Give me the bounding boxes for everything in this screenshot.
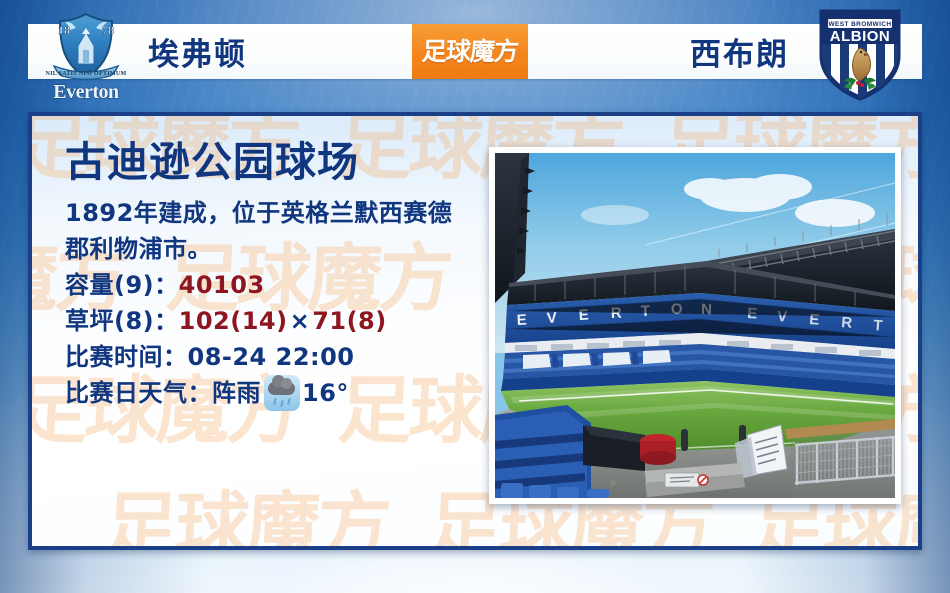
match-time-line: 比赛时间：08-24 22:00 (65, 339, 495, 375)
multiply-sign: × (288, 307, 313, 335)
stadium-info-card: 足球魔方 足球魔方 足球魔方 足球魔方 足球魔方 足球魔方 足球魔方 足球魔方 … (28, 112, 922, 550)
stadium-photo-frame[interactable]: E V E R T O N E V E R T (489, 147, 901, 504)
stadium-info-block: 古迪逊公园球场 1892年建成，位于英格兰默西赛德郡利物浦市。 容量(9)：40… (65, 140, 495, 411)
weather-label: 比赛日天气： (65, 375, 212, 411)
weather-condition: 阵雨 (212, 375, 261, 411)
svg-text:WEST BROMWICH: WEST BROMWICH (829, 21, 892, 28)
match-time-value: 08-24 22:00 (188, 343, 355, 371)
svg-text:78: 78 (102, 23, 114, 37)
svg-text:Everton: Everton (53, 81, 119, 102)
stadium-photo: E V E R T O N E V E R T (495, 153, 895, 498)
weather-temperature: 16° (302, 375, 349, 411)
stadium-info-screen: NIL SATIS NISI OPTIMUM 18 78 Everton Eve… (0, 0, 950, 593)
svg-text:E: E (516, 311, 527, 329)
pitch-label: 草坪(8)： (65, 307, 179, 335)
match-header: NIL SATIS NISI OPTIMUM 18 78 Everton Eve… (0, 0, 950, 103)
everton-crest-label: Everton (134, 6, 135, 7)
svg-text:NIL SATIS NISI OPTIMUM: NIL SATIS NISI OPTIMUM (45, 71, 126, 77)
pitch-width: 71(8) (312, 307, 387, 335)
svg-text:ALBION: ALBION (830, 28, 891, 45)
capacity-value: 40103 (179, 271, 265, 299)
watermark-text: 足球魔方 (102, 490, 390, 546)
wba-crest-label: ALBION (908, 6, 909, 7)
shower-rain-icon (264, 375, 300, 411)
svg-text:18: 18 (58, 23, 70, 37)
away-team-name: 西布朗 (690, 24, 789, 79)
capacity-label: 容量(9)： (65, 271, 179, 299)
capacity-line: 容量(9)：40103 (65, 267, 495, 303)
west-bromwich-albion-crest: WEST BROMWICH ALBION ALBION (812, 6, 908, 102)
everton-crest: NIL SATIS NISI OPTIMUM 18 78 Everton Eve… (38, 6, 134, 102)
weather-line: 比赛日天气：阵雨 16° (65, 375, 495, 411)
pitch-length: 102(14) (179, 307, 288, 335)
match-time-label: 比赛时间： (65, 343, 188, 371)
stadium-description: 1892年建成，位于英格兰默西赛德郡利物浦市。 (65, 195, 463, 267)
brand-logo[interactable]: 足球魔方 (412, 24, 528, 79)
home-team-name: 埃弗顿 (148, 24, 247, 79)
svg-text:T: T (873, 317, 883, 335)
stadium-title: 古迪逊公园球场 (65, 140, 495, 185)
svg-text:R: R (841, 314, 853, 332)
svg-text:V: V (546, 309, 557, 327)
brand-logo-text: 足球魔方 (421, 39, 519, 64)
pitch-size-line: 草坪(8)：102(14)×71(8) (65, 303, 495, 339)
